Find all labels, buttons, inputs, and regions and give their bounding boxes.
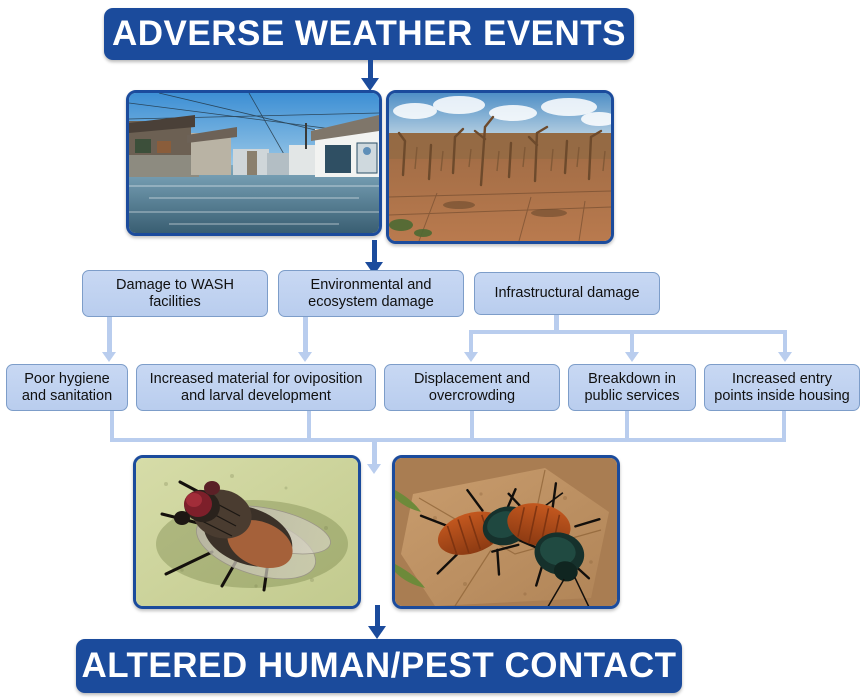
box-increased-entry-points-inside-housing[interactable]: Increased entry points inside housing <box>704 364 860 411</box>
arrowhead-infra-to-breakdown <box>625 352 639 362</box>
connector-infra-bus <box>469 330 787 334</box>
box-displacement-and-overcrowding[interactable]: Displacement and overcrowding <box>384 364 560 411</box>
banner-adverse-weather-events: ADVERSE WEATHER EVENTS <box>104 8 634 60</box>
flooded-street-photo <box>126 90 382 236</box>
connector-wash-to-hygiene <box>107 317 112 354</box>
connector-infra-branch-entry <box>783 330 787 354</box>
connector-env-to-oviposition <box>303 317 308 354</box>
connector-merge-drop-displacement <box>470 411 474 441</box>
box-environmental-and-ecosystem-damage[interactable]: Environmental and ecosystem damage <box>278 270 464 317</box>
connector-infra-branch-displacement <box>469 330 473 354</box>
arrowhead-wash-to-hygiene <box>102 352 116 362</box>
box-damage-to-wash-facilities[interactable]: Damage to WASH facilities <box>82 270 268 317</box>
connector-merge-drop-hygiene <box>110 411 114 441</box>
flowchart-diagram: ADVERSE WEATHER EVENTS <box>0 0 866 700</box>
cockroaches-photo <box>392 455 620 609</box>
box-increased-material-for-oviposition[interactable]: Increased material for oviposition and l… <box>136 364 376 411</box>
box-infrastructural-damage[interactable]: Infrastructural damage <box>474 272 660 315</box>
arrowhead-infra-to-displacement <box>464 352 478 362</box>
connector-merge-drop-entry <box>782 411 786 441</box>
arrowhead-merge-to-pest-photos <box>367 464 381 474</box>
drought-damaged-crops-photo <box>386 90 614 244</box>
connector-merge-drop-breakdown <box>625 411 629 441</box>
box-poor-hygiene-and-sanitation[interactable]: Poor hygiene and sanitation <box>6 364 128 411</box>
box-breakdown-in-public-services[interactable]: Breakdown in public services <box>568 364 696 411</box>
arrowhead-env-to-oviposition <box>298 352 312 362</box>
connector-merge-drop-oviposition <box>307 411 311 441</box>
banner-altered-human-pest-contact: ALTERED HUMAN/PEST CONTACT <box>76 639 682 693</box>
housefly-photo <box>133 455 361 609</box>
connector-infra-branch-breakdown <box>630 330 634 354</box>
arrowhead-photos-to-bottom-banner <box>368 626 386 639</box>
arrowhead-infra-to-entry <box>778 352 792 362</box>
connector-merge-bus <box>110 438 786 442</box>
connector-merge-stem <box>372 438 377 466</box>
